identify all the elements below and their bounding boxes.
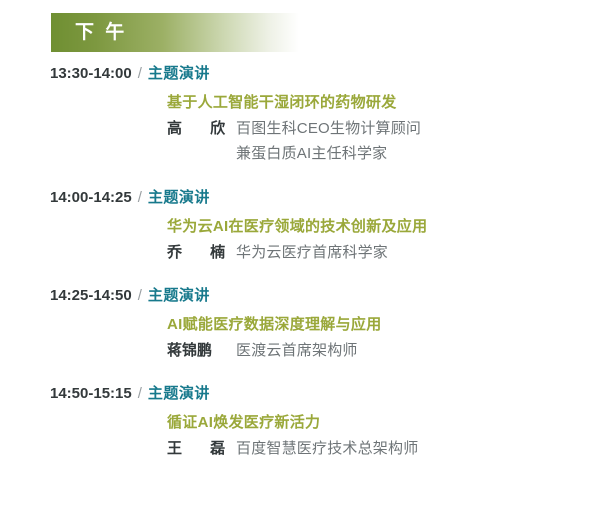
speaker-affiliation-continued: 兼蛋白质AI主任科学家 <box>236 142 600 164</box>
speaker-name: 高 欣 <box>167 117 236 138</box>
session-separator: / <box>132 287 148 304</box>
session-item[interactable]: 14:00-14:25/主题演讲华为云AI在医疗领域的技术创新及应用乔 楠华为云… <box>0 186 600 263</box>
session-time: 14:00-14:25 <box>50 189 132 206</box>
session-type-label: 主题演讲 <box>148 284 210 305</box>
session-title: 基于人工智能干湿闭环的药物研发 <box>167 91 600 113</box>
session-type-label: 主题演讲 <box>148 186 210 207</box>
session-title: AI赋能医疗数据深度理解与应用 <box>167 313 600 335</box>
speaker-affiliation: 医渡云首席架构师 <box>236 339 358 360</box>
speaker-affiliation: 华为云医疗首席科学家 <box>236 241 388 262</box>
speaker-affiliation: 百图生科CEO生物计算顾问 <box>236 117 421 138</box>
speaker-name: 蒋锦鹏 <box>167 339 236 360</box>
session-list: 13:30-14:00/主题演讲基于人工智能干湿闭环的药物研发高 欣百图生科CE… <box>0 62 600 459</box>
session-headline: 14:50-15:15/主题演讲 <box>50 382 600 406</box>
session-headline: 14:00-14:25/主题演讲 <box>50 186 600 210</box>
session-separator: / <box>132 189 148 206</box>
session-title: 循证AI焕发医疗新活力 <box>167 411 600 433</box>
session-spacer <box>0 361 600 382</box>
speaker-name: 乔 楠 <box>167 241 236 262</box>
session-speaker-row: 高 欣百图生科CEO生物计算顾问 <box>167 117 600 139</box>
speaker-name: 王 磊 <box>167 437 236 458</box>
agenda-page: 下 午 13:30-14:00/主题演讲基于人工智能干湿闭环的药物研发高 欣百图… <box>0 0 600 514</box>
session-time: 14:25-14:50 <box>50 287 132 304</box>
session-speaker-row: 王 磊百度智慧医疗技术总架构师 <box>167 437 600 459</box>
section-banner-label: 下 午 <box>75 20 127 45</box>
session-separator: / <box>132 385 148 402</box>
session-speaker-row: 蒋锦鹏医渡云首席架构师 <box>167 339 600 361</box>
session-item[interactable]: 14:50-15:15/主题演讲循证AI焕发医疗新活力王 磊百度智慧医疗技术总架… <box>0 382 600 459</box>
session-title: 华为云AI在医疗领域的技术创新及应用 <box>167 215 600 237</box>
session-type-label: 主题演讲 <box>148 62 210 83</box>
section-banner-afternoon: 下 午 <box>51 13 299 52</box>
session-time: 13:30-14:00 <box>50 65 132 82</box>
session-type-label: 主题演讲 <box>148 382 210 403</box>
session-headline: 13:30-14:00/主题演讲 <box>50 62 600 86</box>
speaker-affiliation: 百度智慧医疗技术总架构师 <box>236 437 418 458</box>
session-item[interactable]: 13:30-14:00/主题演讲基于人工智能干湿闭环的药物研发高 欣百图生科CE… <box>0 62 600 164</box>
session-spacer <box>0 263 600 284</box>
session-time: 14:50-15:15 <box>50 385 132 402</box>
session-separator: / <box>132 65 148 82</box>
session-headline: 14:25-14:50/主题演讲 <box>50 284 600 308</box>
session-item[interactable]: 14:25-14:50/主题演讲AI赋能医疗数据深度理解与应用蒋锦鹏医渡云首席架… <box>0 284 600 361</box>
session-speaker-row: 乔 楠华为云医疗首席科学家 <box>167 241 600 263</box>
session-spacer <box>0 164 600 186</box>
